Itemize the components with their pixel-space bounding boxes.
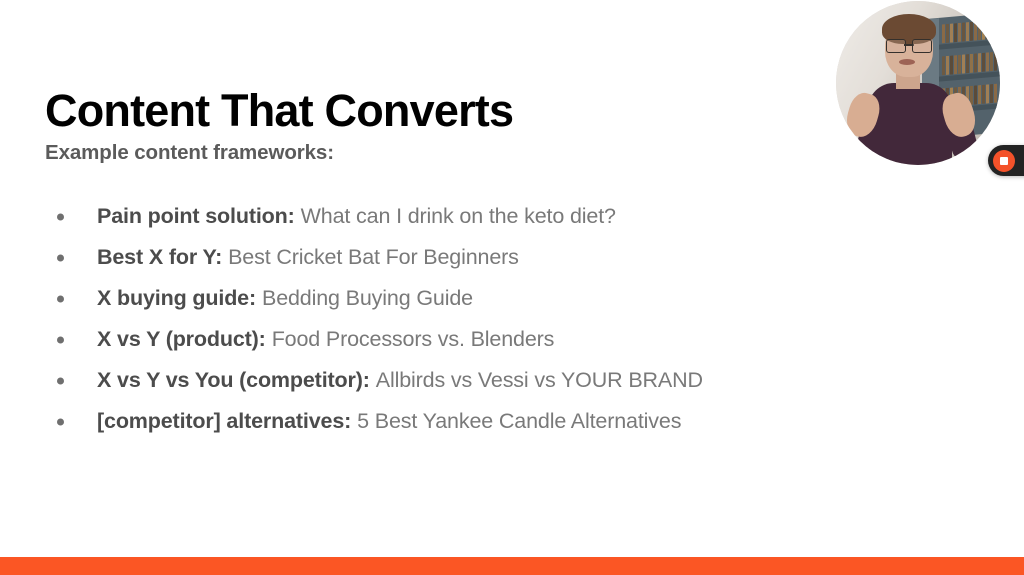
recorder-controls[interactable] (988, 145, 1024, 176)
list-item-label: X buying guide: (97, 286, 256, 311)
list-item-label: Pain point solution: (97, 204, 295, 229)
list-item-example: 5 Best Yankee Candle Alternatives (357, 409, 681, 434)
list-item: Pain point solution: What can I drink on… (45, 196, 865, 237)
list-item: X vs Y vs You (competitor): Allbirds vs … (45, 360, 865, 401)
bullet-dot-icon (57, 213, 64, 220)
webcam-bubble[interactable] (836, 1, 1000, 165)
list-item-label: X vs Y (product): (97, 327, 266, 352)
list-item: [competitor] alternatives: 5 Best Yankee… (45, 401, 865, 442)
list-item: Best X for Y: Best Cricket Bat For Begin… (45, 237, 865, 278)
presentation-slide: Content That Converts Example content fr… (0, 0, 1024, 575)
bottom-accent-bar (0, 557, 1024, 575)
list-item-example: Bedding Buying Guide (262, 286, 473, 311)
list-item: X buying guide: Bedding Buying Guide (45, 278, 865, 319)
list-item-label: Best X for Y: (97, 245, 222, 270)
stop-recording-button[interactable] (993, 150, 1015, 172)
bullet-dot-icon (57, 295, 64, 302)
list-item-label: X vs Y vs You (competitor): (97, 368, 370, 393)
list-item-example: Food Processors vs. Blenders (272, 327, 555, 352)
list-item-example: What can I drink on the keto diet? (301, 204, 616, 229)
presenter-torso (868, 83, 952, 165)
bullet-dot-icon (57, 254, 64, 261)
presenter-mouth (899, 59, 915, 65)
bullet-dot-icon (57, 377, 64, 384)
stop-square-icon (1000, 157, 1008, 165)
bullet-dot-icon (57, 336, 64, 343)
list-item-example: Best Cricket Bat For Beginners (228, 245, 519, 270)
page-title: Content That Converts (45, 87, 513, 134)
list-item-example: Allbirds vs Vessi vs YOUR BRAND (376, 368, 703, 393)
list-item-label: [competitor] alternatives: (97, 409, 351, 434)
list-item: X vs Y (product): Food Processors vs. Bl… (45, 319, 865, 360)
content-frameworks-list: Pain point solution: What can I drink on… (45, 196, 865, 442)
glasses-icon (886, 39, 932, 51)
slide-subtitle: Example content frameworks: (45, 141, 334, 165)
bullet-dot-icon (57, 418, 64, 425)
